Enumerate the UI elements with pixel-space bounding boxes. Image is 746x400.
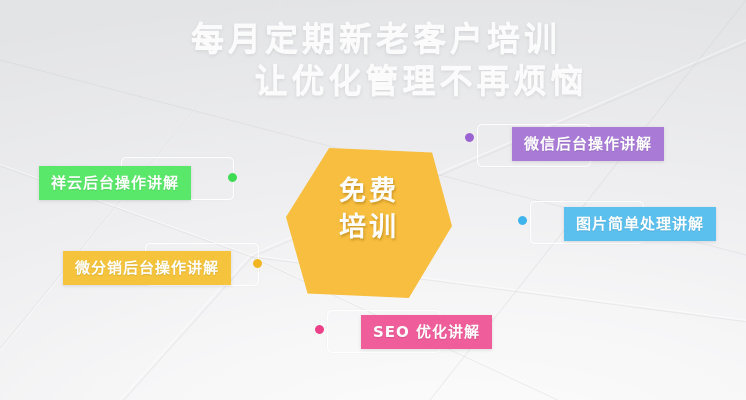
page-title: 每月定期新老客户培训 让优化管理不再烦恼 [0,18,746,102]
connector-dot-seo-optimization [315,325,324,334]
label-image-processing[interactable]: 图片简单处理讲解 [564,207,716,241]
title-line-2: 让优化管理不再烦恼 [0,60,746,102]
label-seo-optimization[interactable]: SEO 优化讲解 [361,315,492,349]
hexagon-line-1: 免费 [286,174,452,210]
label-xiangyun-backend[interactable]: 祥云后台操作讲解 [39,166,191,200]
label-wechat-backend[interactable]: 微信后台操作讲解 [512,127,664,161]
hexagon-text: 免费 培训 [286,174,452,246]
promo-banner: 每月定期新老客户培训 让优化管理不再烦恼 免费 培训 祥云后台操作讲解 微分销后… [0,0,746,400]
title-line-1: 每月定期新老客户培训 [0,18,746,60]
hexagon-line-2: 培训 [286,210,452,246]
label-weifenxiao-backend[interactable]: 微分销后台操作讲解 [63,251,231,285]
connector-dot-wechat-backend [465,133,474,142]
connector-dot-image-processing [518,216,527,225]
connector-dot-weifenxiao-backend [253,259,262,268]
center-hexagon[interactable]: 免费 培训 [286,148,452,298]
connector-dot-xiangyun-backend [228,173,237,182]
